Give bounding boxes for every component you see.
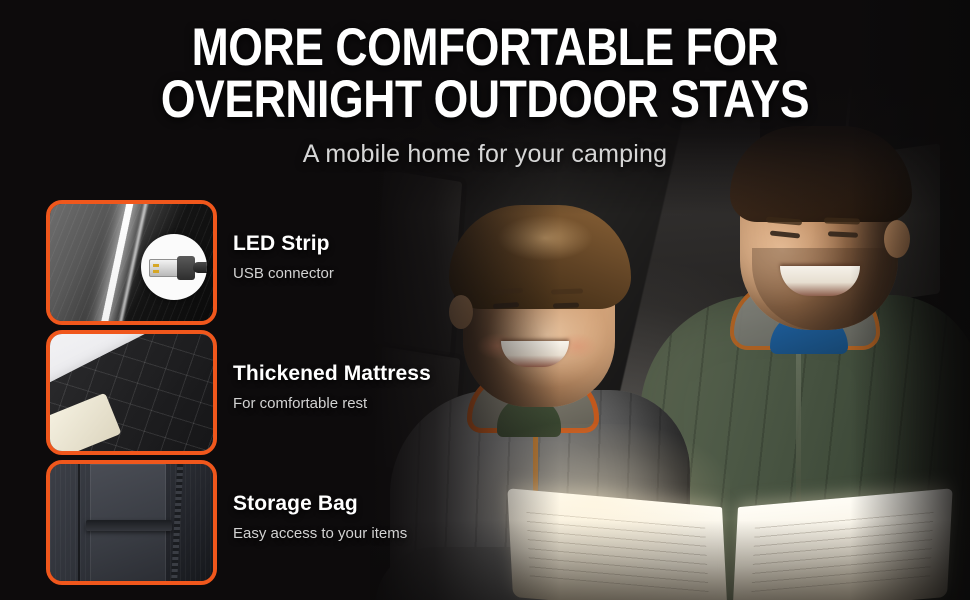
feature-list: LED Strip USB connector Thickened Mattre… bbox=[0, 0, 520, 600]
feature-thumbnail-led-strip bbox=[46, 200, 217, 325]
usb-cable bbox=[193, 262, 207, 273]
feature-subtitle: For comfortable rest bbox=[233, 395, 367, 412]
feature-subtitle: Easy access to your items bbox=[233, 525, 407, 542]
usb-connector-icon bbox=[141, 234, 207, 300]
feature-item-thickened-mattress: Thickened Mattress For comfortable rest bbox=[46, 330, 516, 455]
feature-item-led-strip: LED Strip USB connector bbox=[46, 200, 516, 325]
feature-title: LED Strip bbox=[233, 232, 330, 256]
usb-contact-pin bbox=[153, 264, 159, 267]
promo-banner: MORE COMFORTABLE FOR OVERNIGHT OUTDOOR S… bbox=[0, 0, 970, 600]
feature-title: Storage Bag bbox=[233, 492, 358, 516]
feature-subtitle: USB connector bbox=[233, 265, 334, 282]
feature-text-storage-bag: Storage Bag Easy access to your items bbox=[233, 460, 523, 585]
feature-title: Thickened Mattress bbox=[233, 362, 431, 386]
feature-text-led-strip: LED Strip USB connector bbox=[233, 200, 523, 325]
feature-text-mattress: Thickened Mattress For comfortable rest bbox=[233, 330, 523, 455]
feature-thumbnail-mattress bbox=[46, 330, 217, 455]
feature-item-storage-bag: Storage Bag Easy access to your items bbox=[46, 460, 516, 585]
usb-contact-pin bbox=[153, 270, 159, 273]
feature-thumbnail-storage-bag bbox=[46, 460, 217, 585]
usb-plug-head bbox=[149, 259, 179, 277]
storage-bag-seam bbox=[78, 464, 80, 585]
storage-bag-pocket-flap bbox=[86, 520, 172, 531]
